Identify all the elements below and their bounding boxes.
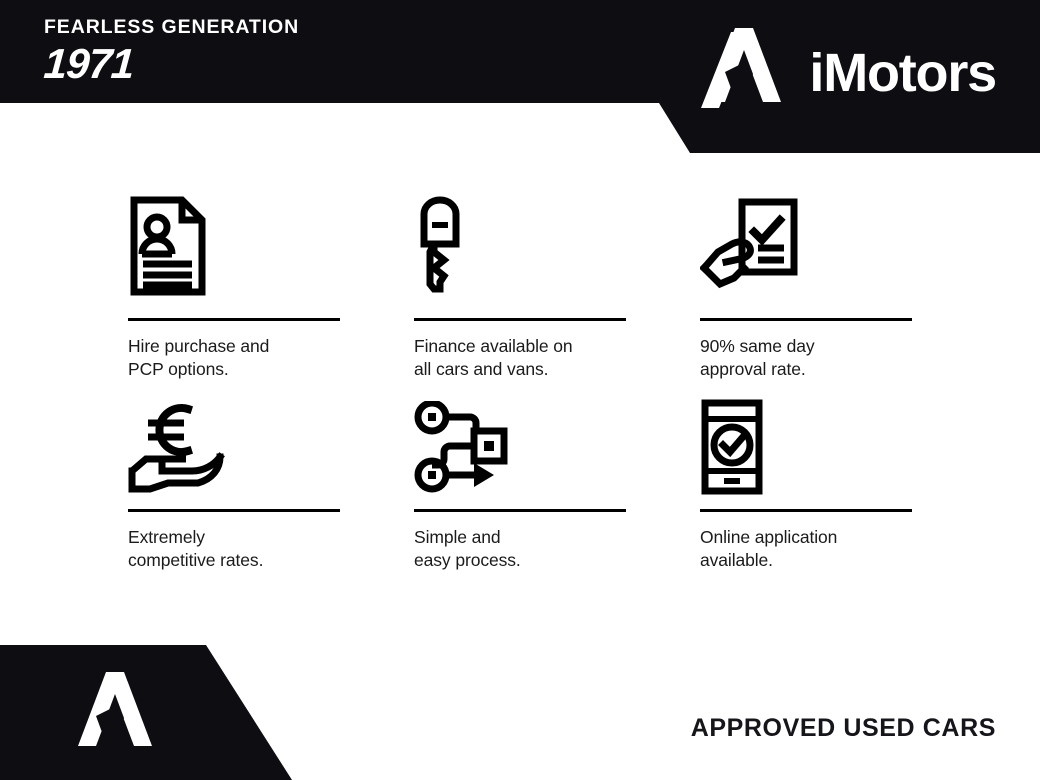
- feature-icon-slot: [128, 196, 340, 300]
- promo-poster: FEARLESS GENERATION 1971 iMotors: [0, 0, 1040, 780]
- feature-divider: [128, 509, 340, 512]
- feature-divider: [414, 509, 626, 512]
- process-flow-icon: [414, 401, 510, 498]
- feature-grid: Hire purchase and PCP options. Finance a…: [128, 196, 912, 572]
- feature-divider: [700, 318, 912, 321]
- feature-icon-slot: [128, 399, 340, 499]
- car-key-icon: [414, 196, 480, 301]
- footer-imotors-chevron-logo-icon: [72, 668, 164, 765]
- feature-divider: [128, 318, 340, 321]
- feature-card: Simple and easy process.: [414, 399, 626, 572]
- hand-holding-approved-document-icon: [700, 196, 804, 301]
- feature-text: Simple and easy process.: [414, 526, 626, 572]
- feature-text: 90% same day approval rate.: [700, 335, 912, 381]
- smartphone-check-icon: [700, 399, 764, 500]
- brand-lockup[interactable]: iMotors: [701, 24, 996, 121]
- feature-card: 90% same day approval rate.: [700, 196, 912, 381]
- feature-text: Finance available on all cars and vans.: [414, 335, 626, 381]
- feature-icon-slot: [700, 196, 912, 300]
- document-person-icon: [128, 196, 208, 301]
- feature-icon-slot: [700, 399, 912, 499]
- feature-icon-slot: [414, 196, 626, 300]
- feature-card: Finance available on all cars and vans.: [414, 196, 626, 381]
- fearless-generation-title: FEARLESS GENERATION: [44, 18, 344, 38]
- fearless-generation-block: FEARLESS GENERATION 1971: [44, 18, 344, 86]
- feature-divider: [700, 509, 912, 512]
- feature-divider: [414, 318, 626, 321]
- brand-name: iMotors: [809, 46, 996, 100]
- feature-text: Hire purchase and PCP options.: [128, 335, 340, 381]
- year-1971-mark: 1971: [42, 42, 345, 86]
- feature-card: Online application available.: [700, 399, 912, 572]
- footer-tagline: APPROVED USED CARS: [691, 716, 996, 741]
- imotors-chevron-logo-icon: [701, 24, 793, 121]
- feature-card: Extremely competitive rates.: [128, 399, 340, 572]
- feature-card: Hire purchase and PCP options.: [128, 196, 340, 381]
- feature-icon-slot: [414, 399, 626, 499]
- feature-text: Extremely competitive rates.: [128, 526, 340, 572]
- feature-text: Online application available.: [700, 526, 912, 572]
- euro-in-hand-icon: [128, 399, 232, 500]
